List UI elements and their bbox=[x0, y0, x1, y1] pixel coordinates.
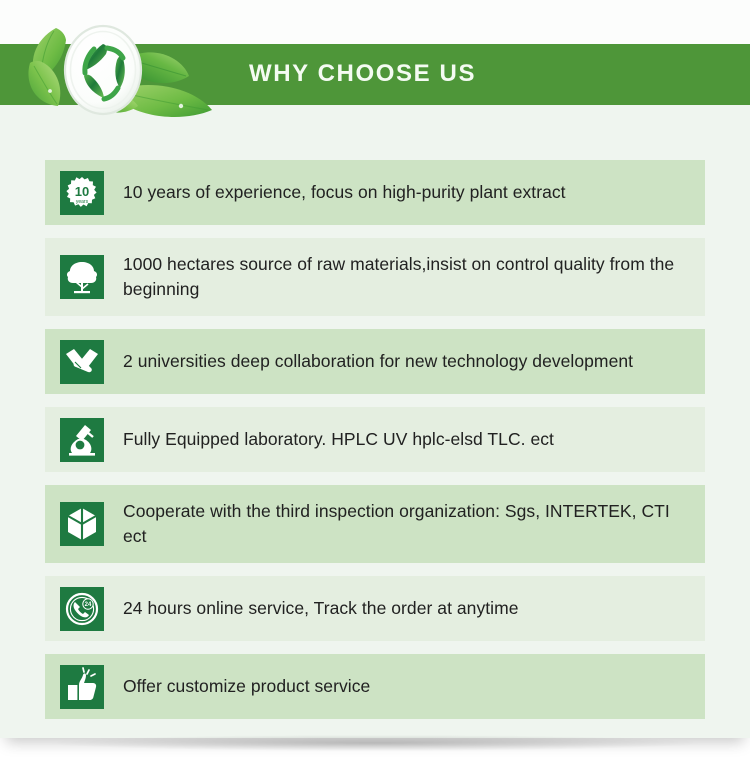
svg-text:years: years bbox=[76, 199, 89, 205]
company-leaf-logo bbox=[14, 18, 219, 123]
list-item-label: Fully Equipped laboratory. HPLC UV hplc-… bbox=[123, 427, 691, 452]
list-item-label: 24 hours online service, Track the order… bbox=[123, 596, 691, 621]
list-item: 2 universities deep collaboration for ne… bbox=[45, 329, 705, 394]
ten-years-badge-icon: 10 years bbox=[60, 171, 104, 215]
phone-24h-icon: 24 bbox=[60, 587, 104, 631]
list-item-label: Cooperate with the third inspection orga… bbox=[123, 499, 691, 549]
list-item: 10 years 10 years of experience, focus o… bbox=[45, 160, 705, 225]
page-title: WHY CHOOSE US bbox=[249, 60, 476, 88]
list-item-label: 2 universities deep collaboration for ne… bbox=[123, 349, 691, 374]
list-item-label: 1000 hectares source of raw materials,in… bbox=[123, 252, 691, 302]
handshake-icon bbox=[60, 340, 104, 384]
svg-text:10: 10 bbox=[75, 184, 89, 199]
svg-text:24: 24 bbox=[85, 602, 92, 608]
list-item: Cooperate with the third inspection orga… bbox=[45, 485, 705, 563]
list-item: Fully Equipped laboratory. HPLC UV hplc-… bbox=[45, 407, 705, 472]
thumbs-up-icon bbox=[60, 665, 104, 709]
list-item: 24 24 hours online service, Track the or… bbox=[45, 576, 705, 641]
list-item: 1000 hectares source of raw materials,in… bbox=[45, 238, 705, 316]
card-drop-shadow bbox=[52, 735, 698, 751]
list-item-label: Offer customize product service bbox=[123, 674, 691, 699]
list-item: Offer customize product service bbox=[45, 654, 705, 719]
feature-list: 10 years 10 years of experience, focus o… bbox=[45, 160, 705, 732]
list-item-label: 10 years of experience, focus on high-pu… bbox=[123, 180, 691, 205]
why-choose-us-page: WHY CHOOSE US 10 years 10 years of exper… bbox=[0, 0, 750, 766]
microscope-icon bbox=[60, 418, 104, 462]
cube-box-icon bbox=[60, 502, 104, 546]
tree-icon bbox=[60, 255, 104, 299]
